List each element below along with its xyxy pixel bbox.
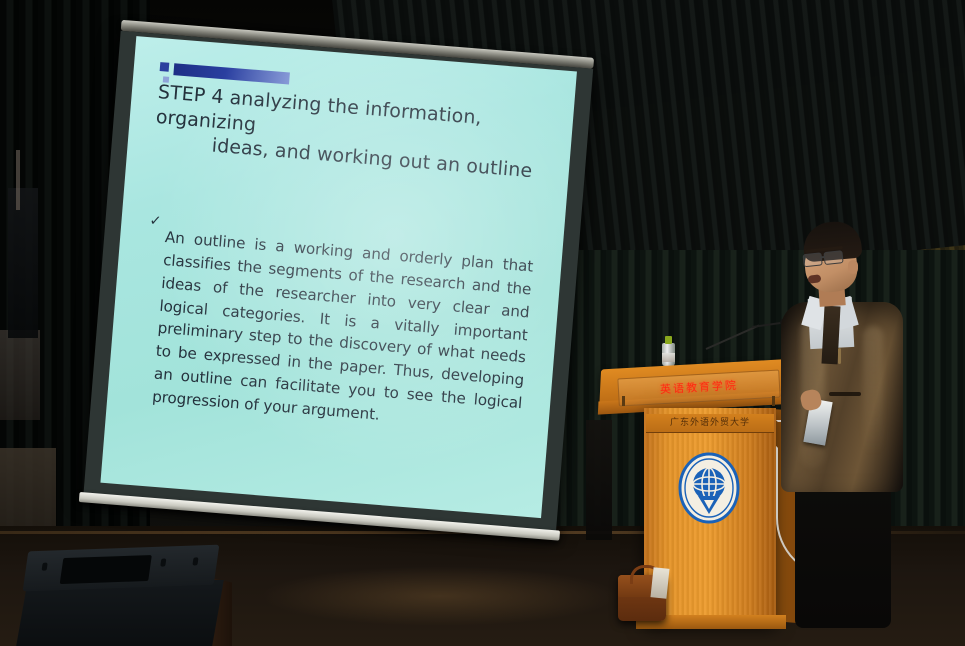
mic-stand-pole bbox=[16, 150, 20, 210]
water-bottle bbox=[662, 336, 675, 366]
jacket-highlight-right bbox=[863, 326, 883, 456]
stage-crate-upper bbox=[0, 330, 40, 420]
stage-monitor-speaker bbox=[22, 548, 222, 646]
accent-square-small-icon bbox=[163, 76, 169, 82]
monitor-vent-1 bbox=[42, 563, 48, 571]
bag-papers bbox=[650, 567, 669, 599]
lecture-hall-photo: STEP 4 analyzing the information, organi… bbox=[0, 0, 965, 646]
screen-border: STEP 4 analyzing the information, organi… bbox=[83, 31, 593, 534]
slide-title-line-2: ideas, and working out an outline bbox=[211, 134, 548, 186]
accent-gradient-bar bbox=[173, 63, 290, 84]
monitor-vent-2 bbox=[160, 558, 166, 566]
monitor-top-face bbox=[23, 545, 220, 592]
slide-body: ✓ An outline is a working and orderly pl… bbox=[133, 210, 535, 453]
monitor-grille bbox=[60, 555, 152, 584]
slide-title-line-1: STEP 4 analyzing the information, organi… bbox=[155, 81, 482, 136]
presenter-legs bbox=[795, 480, 891, 628]
mic-stem-lower bbox=[706, 324, 760, 349]
slide-body-text: An outline is a working and orderly plan… bbox=[151, 226, 534, 437]
glasses-lens-left bbox=[802, 252, 822, 267]
screen-surface: STEP 4 analyzing the information, organi… bbox=[100, 36, 577, 518]
bottle-cap bbox=[665, 336, 672, 344]
podium-university-name: 广东外语外贸大学 bbox=[646, 414, 774, 432]
acrylic-post-left bbox=[622, 396, 625, 406]
presenter bbox=[775, 222, 905, 622]
checkmark-bullet-icon: ✓ bbox=[149, 210, 162, 229]
equipment-rack bbox=[8, 188, 38, 338]
projection-screen: STEP 4 analyzing the information, organi… bbox=[72, 19, 602, 577]
university-globe-emblem-icon bbox=[678, 452, 740, 524]
jacket-zipper-icon bbox=[838, 348, 841, 364]
presentation-slide: STEP 4 analyzing the information, organi… bbox=[100, 36, 577, 518]
floor-reflection bbox=[260, 566, 620, 626]
glasses-lens-right bbox=[823, 250, 843, 265]
accent-square-large-icon bbox=[160, 62, 170, 72]
slide-title: STEP 4 analyzing the information, organi… bbox=[153, 80, 552, 185]
podium-university-name-strip: 广东外语外贸大学 bbox=[646, 414, 774, 433]
monitor-vent-3 bbox=[192, 557, 198, 565]
presenter-ear bbox=[848, 260, 858, 274]
bottle-label bbox=[662, 353, 675, 362]
jacket-pocket bbox=[829, 392, 861, 396]
